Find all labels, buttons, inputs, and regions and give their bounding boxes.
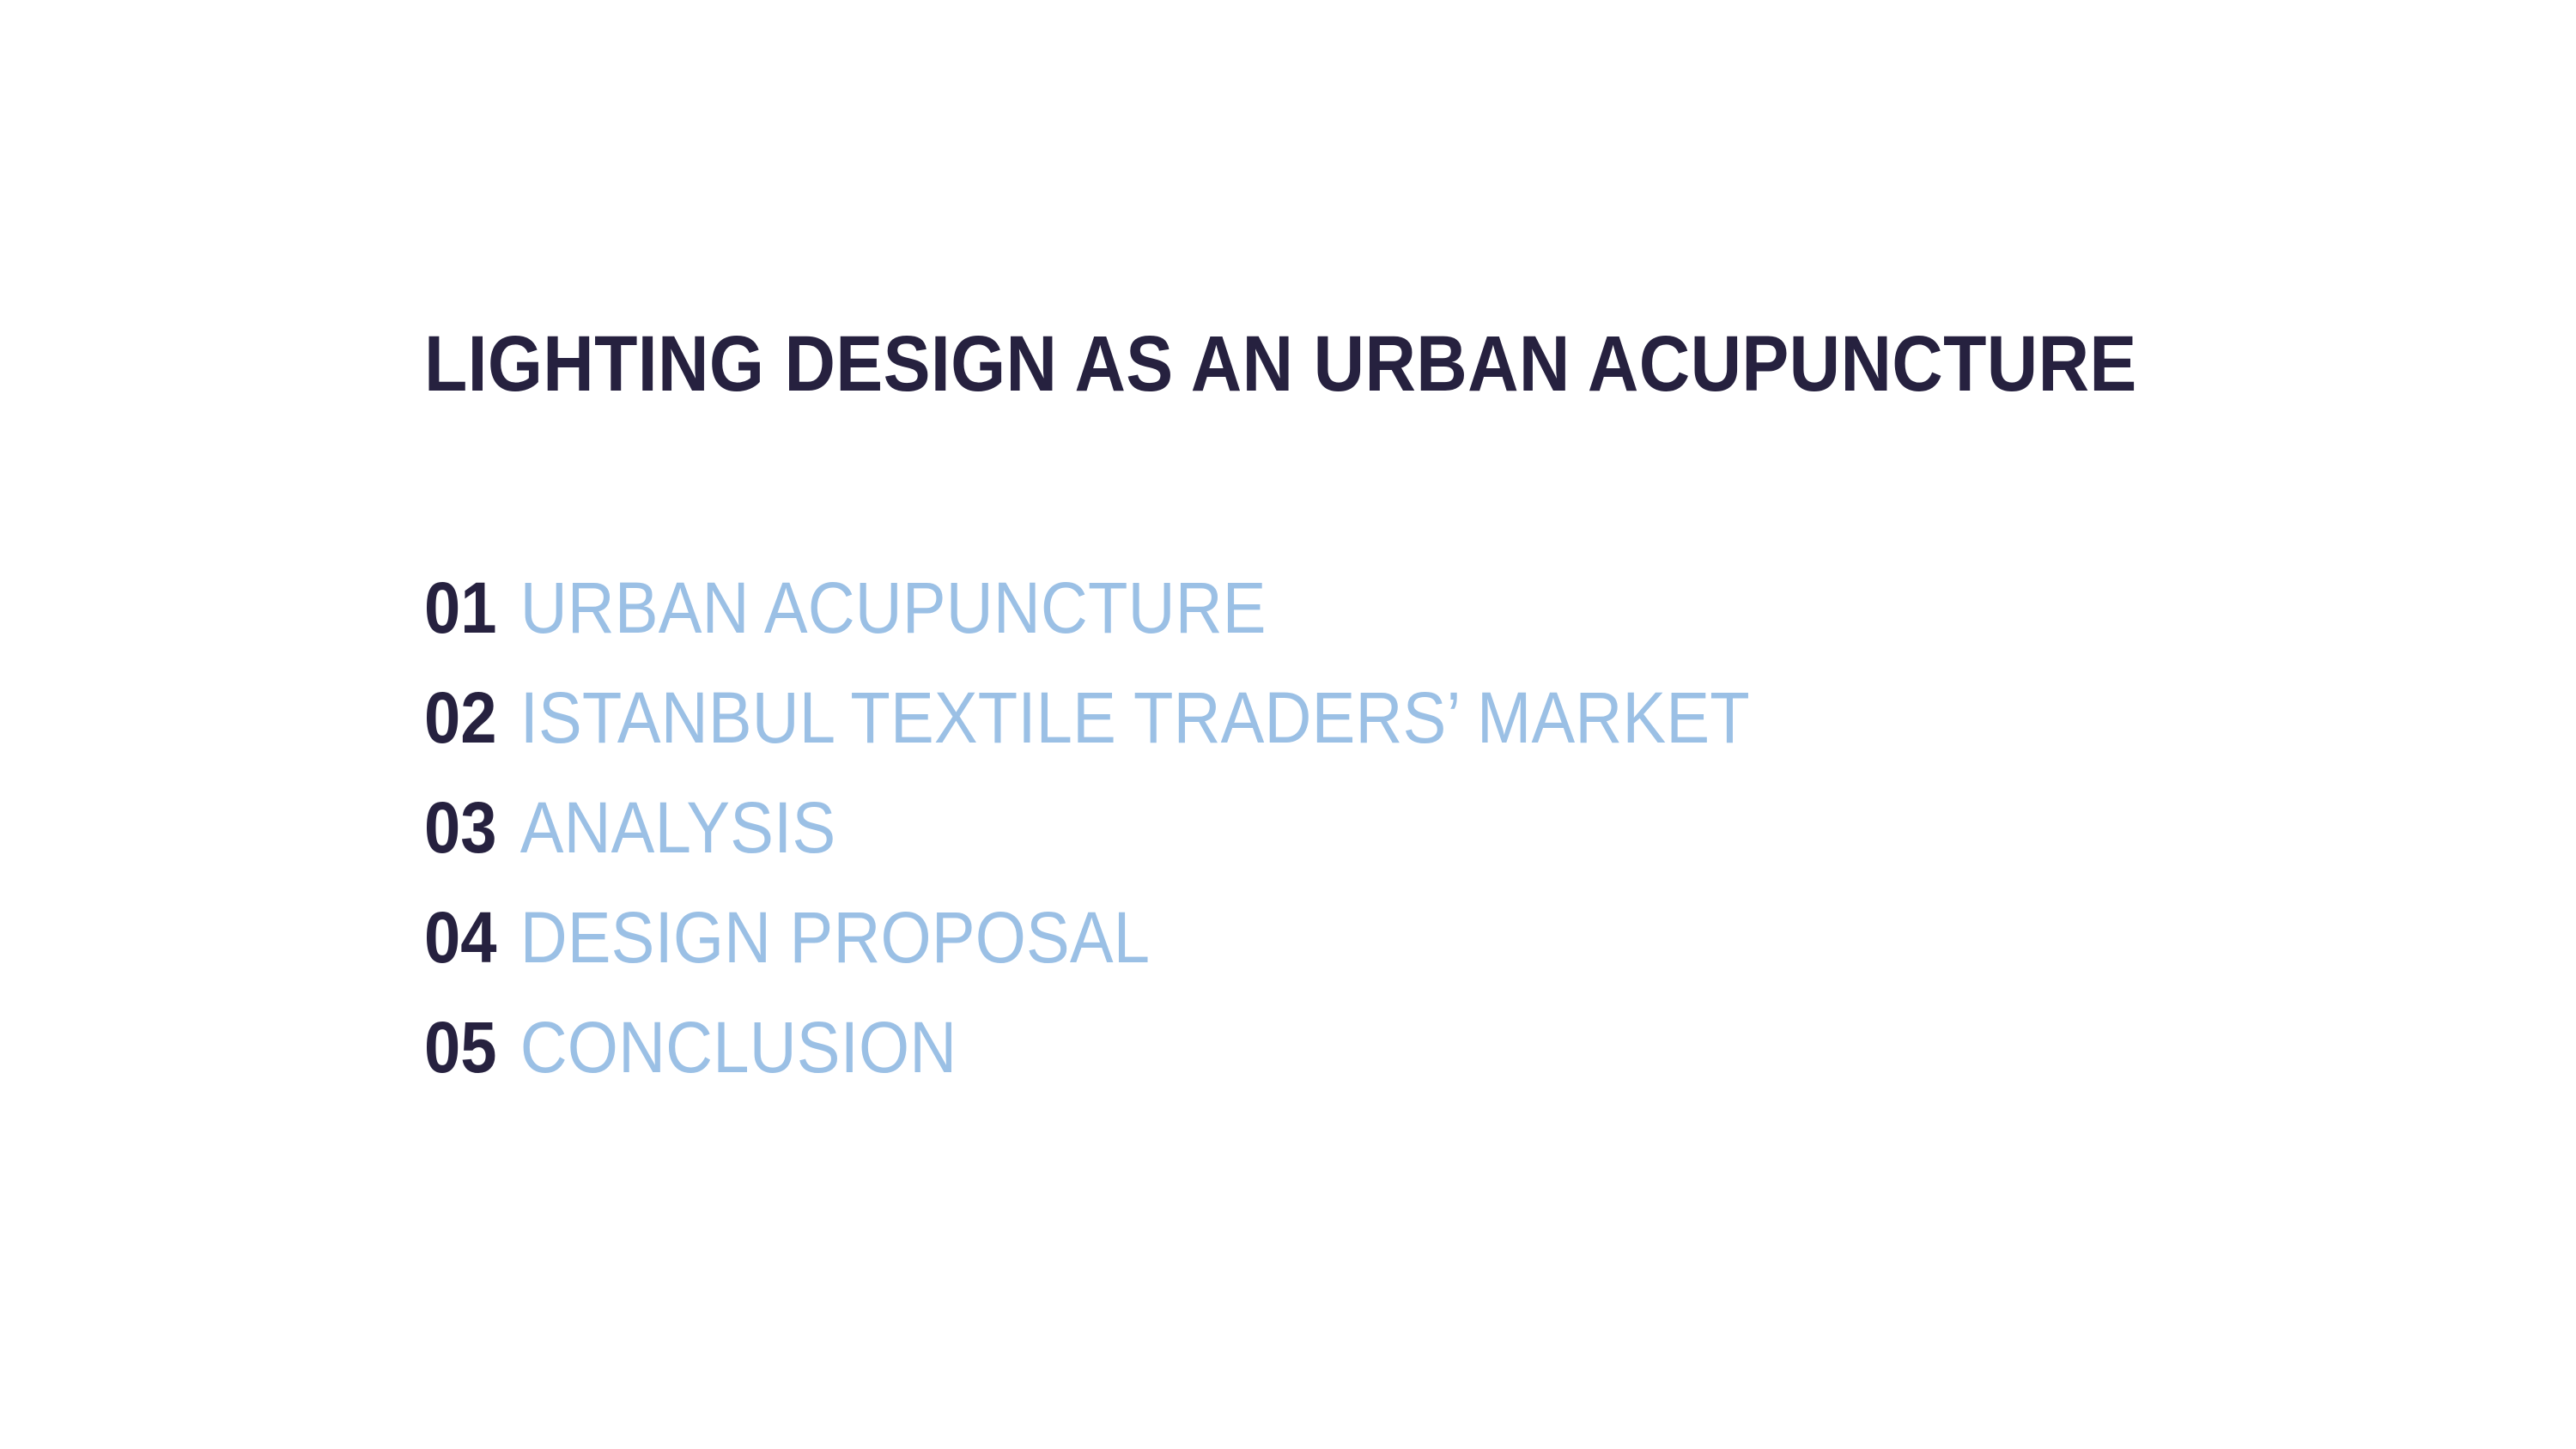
list-item[interactable]: 02ISTANBUL TEXTILE TRADERS’ MARKET — [424, 676, 1750, 786]
presentation-slide: LIGHTING DESIGN AS AN URBAN ACUPUNCTURE … — [0, 0, 2576, 1449]
agenda-item-number: 04 — [424, 896, 497, 979]
agenda-item-number: 01 — [424, 567, 497, 649]
list-item[interactable]: 03ANALYSIS — [424, 786, 1750, 896]
agenda-item-number: 05 — [424, 1006, 497, 1088]
agenda-item-label: URBAN ACUPUNCTURE — [520, 567, 1267, 649]
agenda-list: 01URBAN ACUPUNCTURE 02ISTANBUL TEXTILE T… — [424, 567, 1889, 1116]
agenda-item-label: ANALYSIS — [520, 786, 836, 869]
agenda-item-number: 03 — [424, 786, 497, 869]
list-item[interactable]: 04DESIGN PROPOSAL — [424, 896, 1750, 1006]
list-item[interactable]: 01URBAN ACUPUNCTURE — [424, 567, 1750, 676]
agenda-item-label: CONCLUSION — [520, 1006, 957, 1088]
agenda-item-label: DESIGN PROPOSAL — [520, 896, 1151, 979]
agenda-item-label: ISTANBUL TEXTILE TRADERS’ MARKET — [520, 676, 1750, 759]
page-title: LIGHTING DESIGN AS AN URBAN ACUPUNCTURE — [424, 321, 2137, 407]
agenda-item-number: 02 — [424, 676, 497, 759]
list-item[interactable]: 05CONCLUSION — [424, 1006, 1750, 1116]
